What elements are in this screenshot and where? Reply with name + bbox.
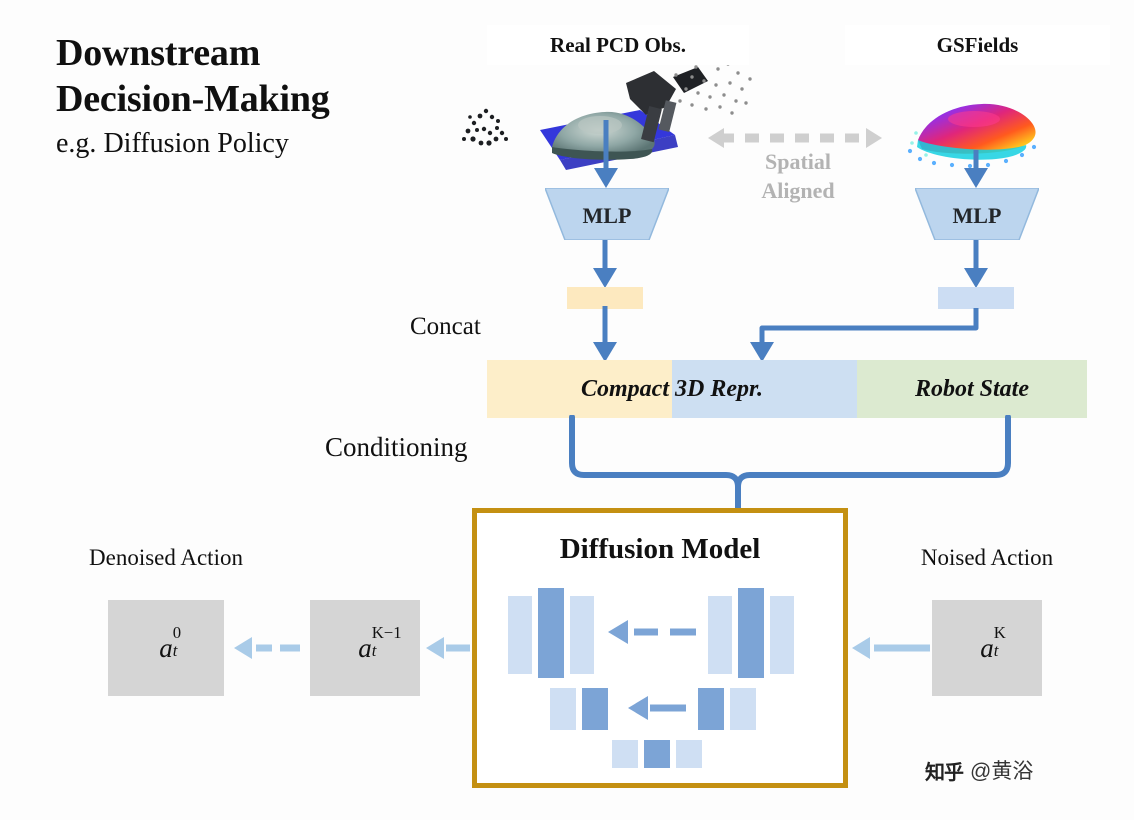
spatial-aligned-label: Spatial Aligned [718, 147, 878, 205]
title-block: Downstream Decision-Making e.g. Diffusio… [56, 30, 456, 160]
spatial-aligned-line1: Spatial [718, 147, 878, 176]
action-intermediate-box: a K−1 t [310, 600, 420, 696]
action-denoised-base: a [159, 633, 173, 663]
watermark: 知乎 @黄浴 [925, 755, 1033, 785]
arrow-dashed-denoise [232, 628, 304, 668]
arrow-mlp-left-to-token [560, 240, 670, 292]
title-line-2: Decision-Making [56, 76, 456, 122]
arrow-conditioning-to-diffusion [540, 415, 1060, 515]
mlp-encoder-right-label: MLP [915, 203, 1039, 229]
conditioning-label: Conditioning [325, 432, 468, 463]
title-subtitle-prefix: e.g. [56, 128, 96, 159]
conditioning-feature-bar: Robot State Compact 3D Repr. [487, 360, 1087, 418]
mlp-encoder-left-label: MLP [545, 203, 669, 229]
arrow-pcd-to-mlp [560, 120, 670, 192]
action-noised-box: a K t [932, 600, 1042, 696]
title-subtitle-rest: Diffusion Policy [96, 128, 288, 159]
arrow-token-right-to-feature [540, 306, 1010, 366]
arrow-gs-to-mlp [930, 150, 1040, 192]
title-line-1: Downstream [56, 30, 456, 76]
concat-label: Concat [410, 313, 481, 341]
diffusion-unet-graphic [500, 588, 830, 768]
arrow-noised-to-diffusion [850, 628, 932, 668]
noised-action-label: Noised Action [882, 545, 1092, 571]
action-intermediate-base: a [358, 633, 372, 663]
arrow-mlp-right-to-token [930, 240, 1040, 292]
action-intermediate-subscript: t [372, 641, 377, 661]
spatial-aligned-line2: Aligned [718, 176, 878, 205]
action-denoised-box: a 0 t [108, 600, 224, 696]
title-subtitle: e.g. Diffusion Policy [56, 128, 456, 160]
feature-segment-compact-a [487, 360, 672, 418]
action-noised-base: a [980, 633, 994, 663]
arrow-diffusion-to-intermediate [424, 628, 472, 668]
feature-segment-robot-state: Robot State [857, 360, 1087, 418]
zhihu-logo-icon: 知乎 [925, 756, 963, 785]
watermark-handle: @黄浴 [970, 755, 1033, 785]
diagram-canvas: Downstream Decision-Making e.g. Diffusio… [0, 0, 1134, 820]
caption-real-pcd: Real PCD Obs. [487, 25, 749, 65]
caption-gsfields: GSFields [845, 25, 1110, 65]
feature-segment-compact-b [672, 360, 857, 418]
action-noised-subscript: t [994, 641, 999, 661]
action-denoised-subscript: t [173, 641, 178, 661]
diffusion-model-title: Diffusion Model [472, 533, 848, 566]
denoised-action-label: Denoised Action [58, 545, 274, 571]
